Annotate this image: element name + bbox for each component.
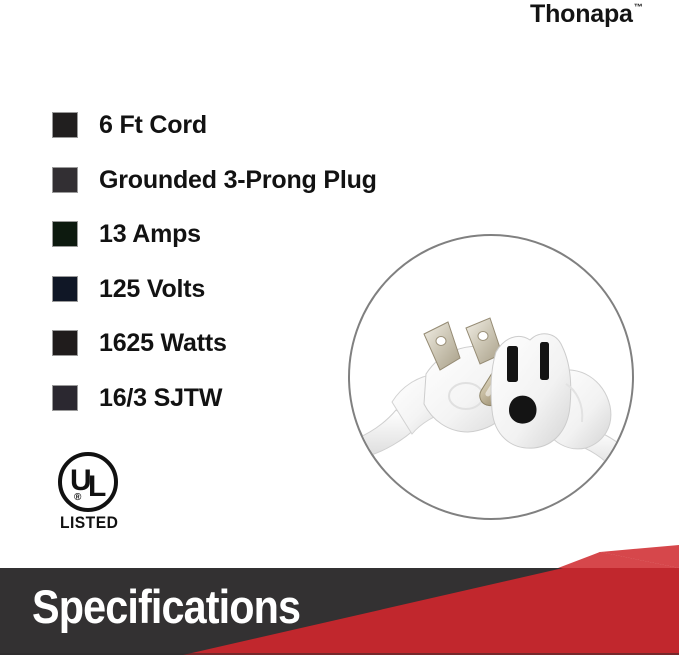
brand-name: Thonapa: [530, 2, 633, 27]
svg-text:®: ®: [74, 492, 82, 503]
product-photo-circle: [348, 234, 634, 520]
svg-text:L: L: [88, 470, 106, 503]
list-item: 6 Ft Cord: [52, 112, 452, 138]
trademark-symbol: ™: [634, 3, 643, 12]
bullet-square-icon: [52, 276, 78, 302]
bullet-square-icon: [52, 167, 78, 193]
spec-label: 16/3 SJTW: [99, 385, 222, 411]
ul-listed-certification-mark: U L ® LISTED: [52, 452, 138, 534]
list-item: Grounded 3-Prong Plug: [52, 167, 452, 193]
spec-label: 6 Ft Cord: [99, 112, 207, 138]
spec-label: Grounded 3-Prong Plug: [99, 167, 377, 193]
spec-label: 1625 Watts: [99, 330, 227, 356]
bullet-square-icon: [52, 221, 78, 247]
spec-label: 13 Amps: [99, 221, 201, 247]
bullet-square-icon: [52, 112, 78, 138]
bullet-square-icon: [52, 385, 78, 411]
svg-text:LISTED: LISTED: [60, 513, 118, 532]
outlet-receptacle-graphic: [491, 334, 634, 472]
bullet-square-icon: [52, 330, 78, 356]
spec-label: 125 Volts: [99, 276, 205, 302]
page-title: Specifications: [32, 583, 300, 630]
brand-logo: Thonapa ™: [530, 2, 643, 27]
product-spec-image: Thonapa ™ 6 Ft Cord Grounded 3-Prong Plu…: [0, 0, 679, 655]
